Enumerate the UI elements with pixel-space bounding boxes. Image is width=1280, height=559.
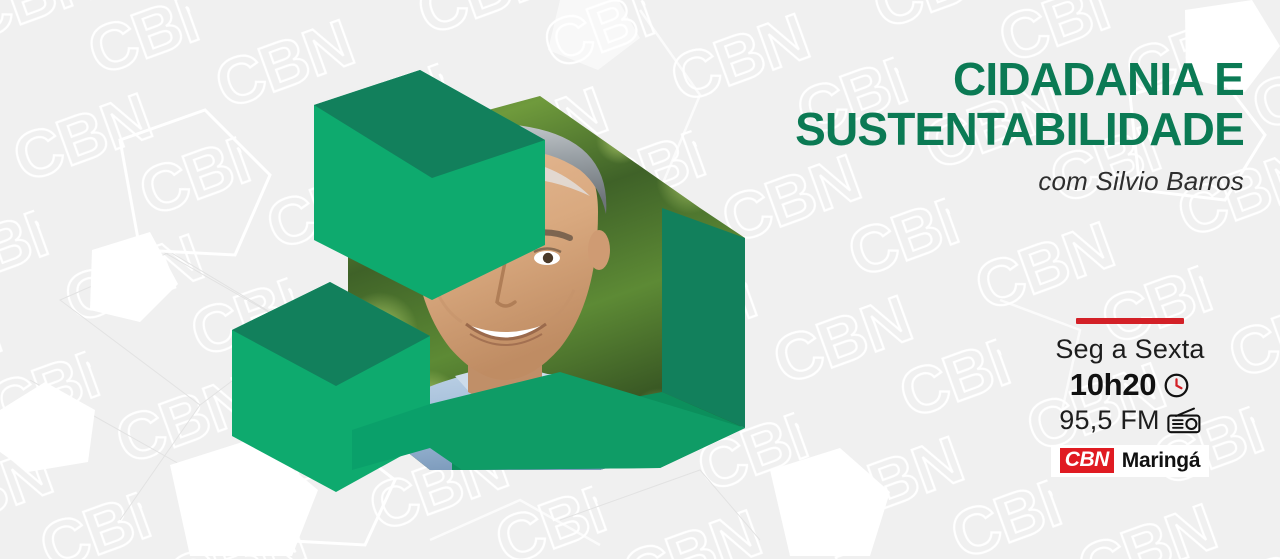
broadcast-info-block: Seg a Sexta 10h20 95,5 FM CBN Maringá: [1020, 318, 1240, 477]
station-city-label: Maringá: [1122, 449, 1200, 473]
red-divider: [1076, 318, 1184, 324]
broadcast-frequency: 95,5 FM: [1059, 405, 1159, 436]
page-title-line2: SUSTENTABILIDADE: [624, 106, 1244, 152]
broadcast-days: Seg a Sexta: [1020, 334, 1240, 365]
page-title-line1: CIDADANIA E: [624, 56, 1244, 102]
radio-show-banner: CBN CBN: [0, 0, 1280, 559]
radio-icon: [1167, 407, 1201, 434]
station-logo: CBN Maringá: [1051, 445, 1209, 477]
cbn-logo-mark: CBN: [1060, 448, 1114, 473]
broadcast-time: 10h20: [1070, 367, 1156, 403]
show-title-block: CIDADANIA E SUSTENTABILIDADE com Silvio …: [624, 56, 1244, 197]
show-host-subtitle: com Silvio Barros: [624, 166, 1244, 197]
clock-icon: [1163, 372, 1190, 399]
broadcast-frequency-row: 95,5 FM: [1020, 405, 1240, 436]
broadcast-time-row: 10h20: [1020, 367, 1240, 403]
